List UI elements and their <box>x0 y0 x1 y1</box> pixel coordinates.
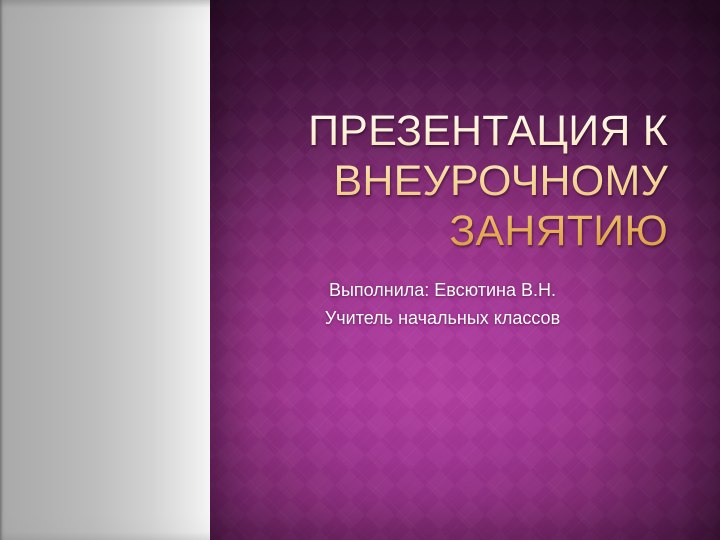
slide-subtitle: Выполнила: Евсютина В.Н. Учитель начальн… <box>210 276 675 332</box>
slide-text-layer: ПРЕЗЕНТАЦИЯ К ВНЕУРОЧНОМУ ЗАНЯТИЮ Выполн… <box>210 0 720 540</box>
subtitle-line-role: Учитель начальных классов <box>210 304 675 332</box>
gray-panel-inner-shading <box>0 0 210 540</box>
left-gray-panel <box>0 0 210 540</box>
subtitle-line-author: Выполнила: Евсютина В.Н. <box>210 276 675 304</box>
presentation-title-slide: ПРЕЗЕНТАЦИЯ К ВНЕУРОЧНОМУ ЗАНЯТИЮ Выполн… <box>0 0 720 540</box>
slide-title: ПРЕЗЕНТАЦИЯ К ВНЕУРОЧНОМУ ЗАНЯТИЮ <box>248 106 668 256</box>
gray-panel-left-edge-shadow <box>0 0 3 540</box>
